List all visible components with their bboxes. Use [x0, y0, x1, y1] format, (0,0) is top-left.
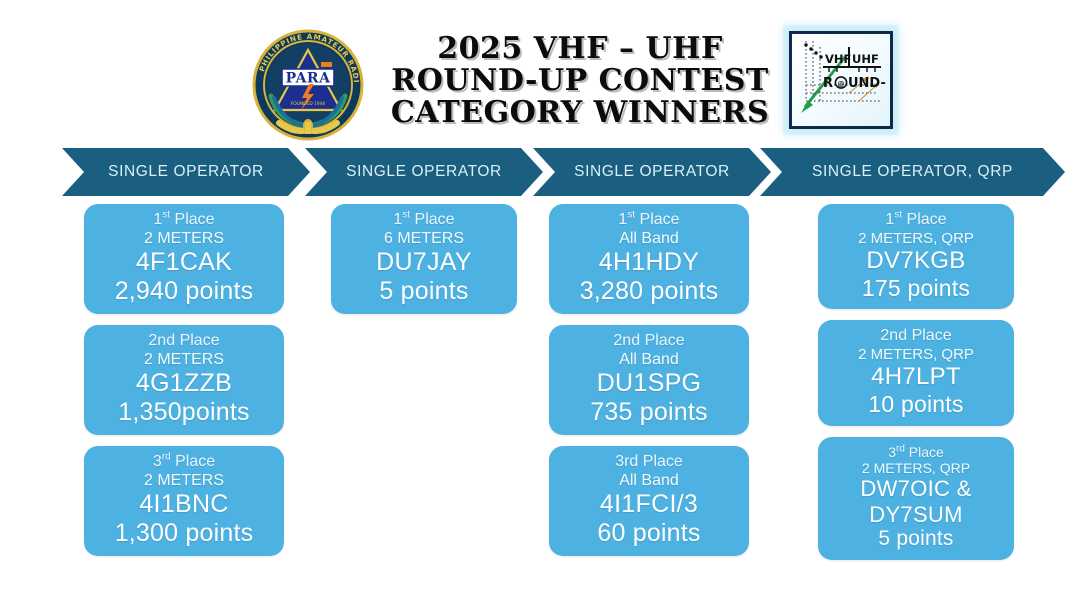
svg-text:UHF: UHF [852, 52, 879, 66]
band-label: 2 METERS, QRP [828, 230, 1004, 247]
title-line-3: CATEGORY WINNERS [391, 97, 769, 129]
place-label: 2nd Place [559, 332, 739, 351]
banner-label: SINGLE OPERATOR [108, 163, 264, 181]
winner-card[interactable]: 2nd Place 2 METERS 4G1ZZB 1,350points [84, 325, 284, 435]
band-label: 2 METERS, QRP [828, 460, 1004, 476]
place-label: 3rd Place [828, 444, 1004, 460]
band-label: All Band [559, 351, 739, 370]
band-label: 2 METERS [94, 472, 274, 491]
callsign-label: 4I1FCI/3 [559, 490, 739, 519]
page-title: 2025 VHF – UHF ROUND-UP CONTEST CATEGORY… [378, 24, 782, 138]
points-label: 175 points [828, 275, 1004, 302]
banner-single-operator-6m[interactable]: SINGLE OPERATOR [305, 148, 543, 196]
place-label: 3rd Place [559, 453, 739, 472]
winner-card[interactable]: 1st Place 2 METERS, QRP DV7KGB 175 point… [818, 204, 1014, 309]
category-column-2: SINGLE OPERATOR 1st Place 6 METERS DU7JA… [305, 148, 543, 325]
card-list-column-1: 1st Place 2 METERS 4F1CAK 2,940 points 2… [62, 204, 310, 556]
card-list-column-3: 1st Place All Band 4H1HDY 3,280 points 2… [533, 204, 771, 556]
place-label: 1st Place [341, 211, 507, 230]
callsign-label: 4F1CAK [94, 248, 274, 277]
svg-text:R: R [823, 76, 833, 91]
banner-single-operator-2m[interactable]: SINGLE OPERATOR [62, 148, 310, 196]
points-label: 10 points [828, 391, 1004, 418]
card-list-column-2: 1st Place 6 METERS DU7JAY 5 points [305, 204, 543, 314]
svg-text:FOUNDED 1946: FOUNDED 1946 [291, 101, 326, 107]
winner-card[interactable]: 3rd Place All Band 4I1FCI/3 60 points [549, 446, 749, 556]
place-label: 2nd Place [94, 332, 274, 351]
points-label: 1,350points [94, 398, 274, 427]
banner-label: SINGLE OPERATOR [346, 163, 502, 181]
winner-card[interactable]: 2nd Place All Band DU1SPG 735 points [549, 325, 749, 435]
points-label: 735 points [559, 398, 739, 427]
slide-canvas: PHILIPPINE AMATEUR RADIO ASSOCIATION PAR… [0, 0, 1080, 606]
winner-card[interactable]: 1st Place 6 METERS DU7JAY 5 points [331, 204, 517, 314]
winner-card[interactable]: 3rd Place 2 METERS 4I1BNC 1,300 points [84, 446, 284, 556]
points-label: 60 points [559, 519, 739, 548]
banner-single-operator-allband[interactable]: SINGLE OPERATOR [533, 148, 771, 196]
svg-text:VHF: VHF [825, 52, 851, 66]
callsign-label: DU1SPG [559, 369, 739, 398]
category-column-4: SINGLE OPERATOR, QRP 1st Place 2 METERS,… [760, 148, 1065, 571]
place-label: 1st Place [559, 211, 739, 230]
banner-label: SINGLE OPERATOR, QRP [812, 163, 1013, 181]
callsign-label: 4I1BNC [94, 490, 274, 519]
band-label: All Band [559, 230, 739, 249]
slide-header: PHILIPPINE AMATEUR RADIO ASSOCIATION PAR… [0, 0, 1080, 148]
place-label: 1st Place [828, 211, 1004, 230]
para-logo: PHILIPPINE AMATEUR RADIO ASSOCIATION PAR… [249, 26, 367, 144]
points-label: 2,940 points [94, 277, 274, 306]
place-label: 3rd Place [94, 453, 274, 472]
callsign-label: DV7KGB [828, 247, 1004, 275]
place-label: 2nd Place [828, 327, 1004, 346]
callsign-label: 4H1HDY [559, 248, 739, 277]
points-label: 5 points [341, 277, 507, 306]
points-label: 3,280 points [559, 277, 739, 306]
winner-card[interactable]: 2nd Place 2 METERS, QRP 4H7LPT 10 points [818, 320, 1014, 425]
winner-card[interactable]: 1st Place 2 METERS 4F1CAK 2,940 points [84, 204, 284, 314]
vhf-uhf-roundup-logo: VHF UHF R @ UND-UP [781, 25, 899, 133]
callsign-label: DW7OIC & [828, 476, 1004, 502]
category-columns: SINGLE OPERATOR 1st Place 2 METERS 4F1CA… [0, 148, 1080, 606]
band-label: 2 METERS, QRP [828, 346, 1004, 363]
winner-card[interactable]: 1st Place All Band 4H1HDY 3,280 points [549, 204, 749, 314]
place-label: 1st Place [94, 211, 274, 230]
band-label: 2 METERS [94, 230, 274, 249]
callsign-label: DU7JAY [341, 248, 507, 277]
svg-text:PARA: PARA [286, 71, 332, 87]
svg-text:@: @ [838, 80, 845, 88]
band-label: All Band [559, 472, 739, 491]
callsign-label: 4H7LPT [828, 363, 1004, 391]
points-label: 1,300 points [94, 519, 274, 548]
svg-text:UND-UP: UND-UP [848, 76, 887, 91]
banner-single-operator-qrp[interactable]: SINGLE OPERATOR, QRP [760, 148, 1065, 196]
callsign-label-secondary: DY7SUM [828, 502, 1004, 528]
category-column-3: SINGLE OPERATOR 1st Place All Band 4H1HD… [533, 148, 771, 567]
title-line-1: 2025 VHF – UHF [437, 33, 723, 65]
card-list-column-4: 1st Place 2 METERS, QRP DV7KGB 175 point… [760, 204, 1065, 560]
band-label: 6 METERS [341, 230, 507, 249]
points-label: 5 points [828, 527, 1004, 551]
title-line-2: ROUND-UP CONTEST [391, 65, 768, 97]
category-column-1: SINGLE OPERATOR 1st Place 2 METERS 4F1CA… [62, 148, 310, 567]
winner-card[interactable]: 3rd Place 2 METERS, QRP DW7OIC & DY7SUM … [818, 437, 1014, 560]
band-label: 2 METERS [94, 351, 274, 370]
banner-label: SINGLE OPERATOR [574, 163, 730, 181]
callsign-label: 4G1ZZB [94, 369, 274, 398]
